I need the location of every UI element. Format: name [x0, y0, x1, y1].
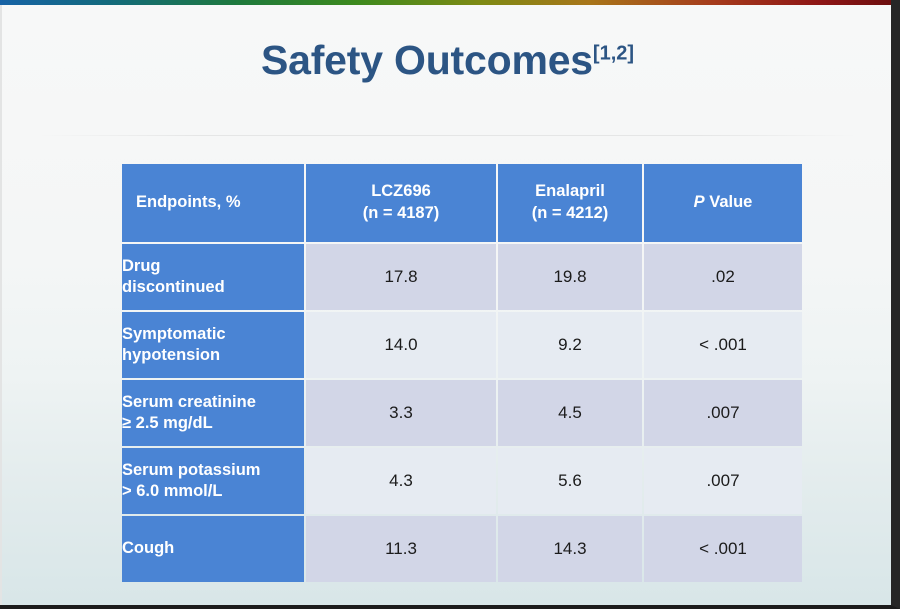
table-header-row: Endpoints, % LCZ696 (n = 4187) Enalapril…	[122, 164, 802, 242]
cell-p-value: < .001	[644, 516, 802, 582]
cell-enalapril: 9.2	[498, 312, 642, 378]
cell-lcz696: 14.0	[306, 312, 496, 378]
cell-p-value: .02	[644, 244, 802, 310]
safety-outcomes-table: Endpoints, % LCZ696 (n = 4187) Enalapril…	[120, 162, 804, 584]
column-header-lcz696: LCZ696 (n = 4187)	[306, 164, 496, 242]
row-label-line1: Drug	[122, 256, 304, 277]
table-row: Serum potassium > 6.0 mmol/L 4.3 5.6 .00…	[122, 448, 802, 514]
row-label-serum-creatinine: Serum creatinine ≥ 2.5 mg/dL	[122, 380, 304, 446]
cell-p-value: .007	[644, 448, 802, 514]
cell-p-value: .007	[644, 380, 802, 446]
slide-canvas: Safety Outcomes[1,2] Endpoints, % LCZ696…	[0, 5, 891, 605]
cell-lcz696: 3.3	[306, 380, 496, 446]
cell-lcz696: 4.3	[306, 448, 496, 514]
cell-enalapril: 19.8	[498, 244, 642, 310]
row-label-line1: Serum creatinine	[122, 392, 304, 413]
column-header-lcz696-count: (n = 4187)	[306, 203, 496, 225]
cell-p-value: < .001	[644, 312, 802, 378]
column-header-enalapril-count: (n = 4212)	[498, 203, 642, 225]
row-label-cough: Cough	[122, 516, 304, 582]
column-header-enalapril: Enalapril (n = 4212)	[498, 164, 642, 242]
row-label-line1: Symptomatic	[122, 324, 304, 345]
row-label-line2: hypotension	[122, 345, 304, 366]
slide-frame: Safety Outcomes[1,2] Endpoints, % LCZ696…	[0, 0, 900, 609]
row-label-line1: Cough	[122, 538, 304, 559]
page-title-reference: [1,2]	[593, 42, 634, 64]
row-label-drug-discontinued: Drug discontinued	[122, 244, 304, 310]
table-row: Serum creatinine ≥ 2.5 mg/dL 3.3 4.5 .00…	[122, 380, 802, 446]
cell-enalapril: 5.6	[498, 448, 642, 514]
column-header-lcz696-name: LCZ696	[306, 181, 496, 203]
cell-enalapril: 14.3	[498, 516, 642, 582]
column-header-endpoints: Endpoints, %	[122, 164, 304, 242]
column-header-enalapril-name: Enalapril	[498, 181, 642, 203]
cell-lcz696: 17.8	[306, 244, 496, 310]
row-label-symptomatic-hypotension: Symptomatic hypotension	[122, 312, 304, 378]
column-header-p-symbol: P	[694, 193, 705, 211]
row-label-line2: discontinued	[122, 277, 304, 298]
row-label-serum-potassium: Serum potassium > 6.0 mmol/L	[122, 448, 304, 514]
title-divider	[38, 135, 858, 136]
column-header-p-value: P Value	[644, 164, 802, 242]
row-label-line2: ≥ 2.5 mg/dL	[122, 413, 304, 434]
row-label-line1: Serum potassium	[122, 460, 304, 481]
page-title-text: Safety Outcomes	[261, 37, 593, 83]
page-title: Safety Outcomes[1,2]	[2, 37, 893, 84]
table-row: Cough 11.3 14.3 < .001	[122, 516, 802, 582]
column-header-value-word: Value	[705, 193, 753, 211]
row-label-line2: > 6.0 mmol/L	[122, 481, 304, 502]
cell-lcz696: 11.3	[306, 516, 496, 582]
table-row: Symptomatic hypotension 14.0 9.2 < .001	[122, 312, 802, 378]
cell-enalapril: 4.5	[498, 380, 642, 446]
table-row: Drug discontinued 17.8 19.8 .02	[122, 244, 802, 310]
